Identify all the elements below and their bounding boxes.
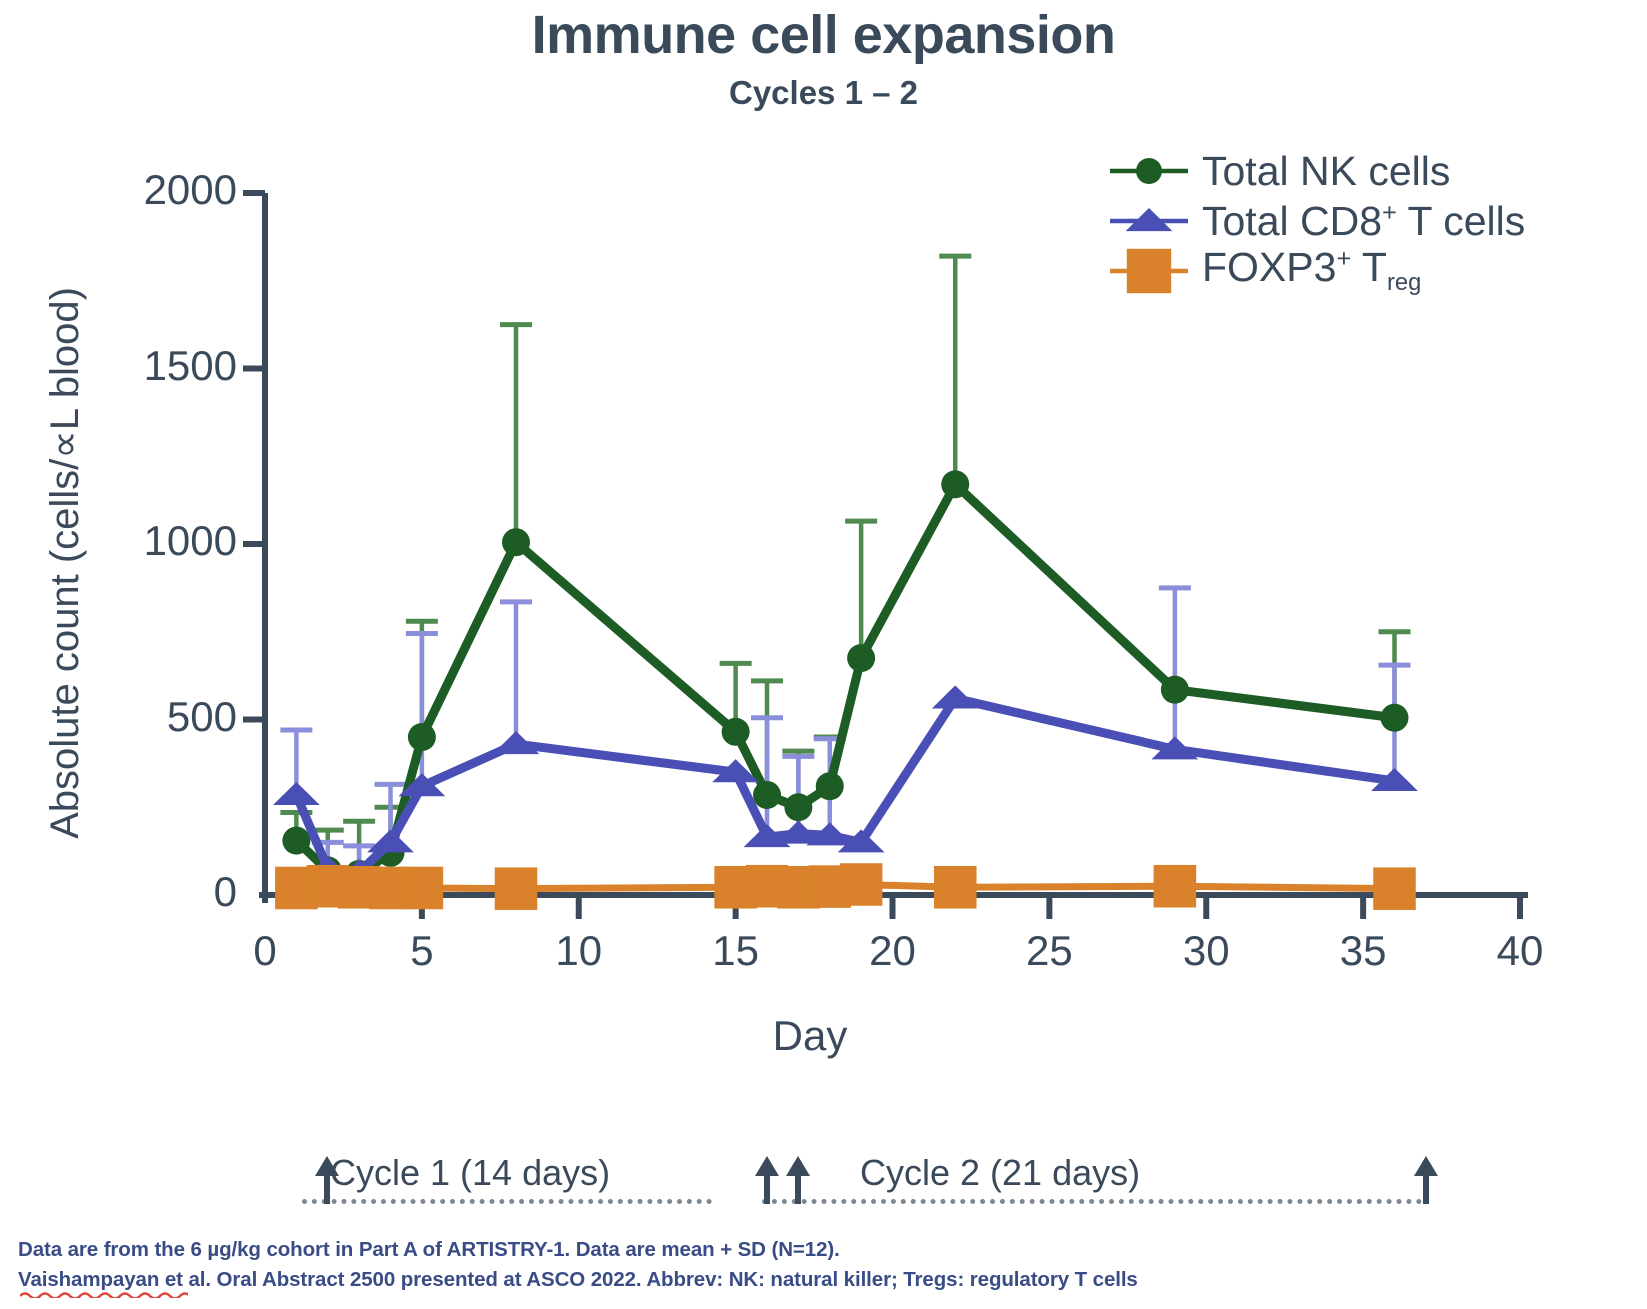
data-point-marker: [722, 718, 750, 746]
data-point-marker: [753, 781, 781, 809]
series-line-total-nk-cells: [296, 484, 1394, 874]
footnote-line-1: Data are from the 6 µg/kg cohort in Part…: [18, 1238, 840, 1262]
data-point-marker: [784, 793, 812, 821]
series-foxp3-treg: [275, 863, 1416, 910]
legend-label-2: FOXP3+ Treg: [1202, 244, 1421, 297]
cycle-2-dashed-line: [762, 1199, 1422, 1204]
chart-figure: Immune cell expansion Cycles 1 – 2 Absol…: [0, 0, 1647, 1309]
cycle-1-label: Cycle 1 (14 days): [330, 1152, 610, 1194]
data-point-marker: [941, 470, 969, 498]
dose-arrow-icon-1: [754, 1156, 780, 1204]
footnote-line-2: Vaishampayan et al. Oral Abstract 2500 p…: [18, 1268, 1138, 1292]
legend-marker-circle-icon: [1108, 169, 1190, 173]
data-point-marker: [408, 723, 436, 751]
data-point-marker: [1373, 867, 1416, 910]
data-point-marker: [934, 866, 977, 909]
cycle-annotation-bar: Cycle 1 (14 days) Cycle 2 (21 days): [0, 1152, 1647, 1222]
data-point-marker: [840, 863, 883, 906]
data-point-marker: [401, 867, 444, 910]
data-point-marker: [273, 782, 320, 805]
legend-item-1[interactable]: Total CD8+ T cells: [1108, 198, 1525, 244]
legend-item-2[interactable]: FOXP3+ Treg: [1108, 248, 1525, 294]
data-point-marker: [502, 528, 530, 556]
legend-marker-square-icon: [1108, 269, 1190, 273]
data-point-marker: [1161, 676, 1189, 704]
legend-item-0[interactable]: Total NK cells: [1108, 148, 1525, 194]
data-point-marker: [1136, 158, 1162, 184]
dose-arrow-icon-2: [785, 1156, 811, 1204]
spellcheck-underline: [20, 1292, 188, 1298]
legend-label-1: Total CD8+ T cells: [1202, 198, 1525, 245]
data-point-marker: [367, 829, 414, 852]
data-point-marker: [1154, 865, 1197, 908]
data-point-marker: [847, 644, 875, 672]
legend-label-0: Total NK cells: [1202, 148, 1450, 195]
series-total-nk-cells: [282, 470, 1408, 888]
data-point-marker: [816, 772, 844, 800]
dose-arrow-icon-3: [1413, 1156, 1439, 1204]
chart-legend: Total NK cellsTotal CD8+ T cellsFOXP3+ T…: [1108, 148, 1525, 298]
cycle-1-dashed-line: [302, 1199, 712, 1204]
data-point-marker: [1127, 249, 1171, 293]
legend-marker-triangle-icon: [1108, 219, 1190, 223]
data-point-marker: [932, 685, 979, 708]
cycle-2-label: Cycle 2 (21 days): [860, 1152, 1140, 1194]
data-point-marker: [495, 867, 538, 910]
data-point-marker: [1381, 704, 1409, 732]
dose-arrow-icon-0: [314, 1156, 340, 1204]
errorbars-total-nk-cells: [280, 256, 1410, 874]
data-point-marker: [282, 827, 310, 855]
